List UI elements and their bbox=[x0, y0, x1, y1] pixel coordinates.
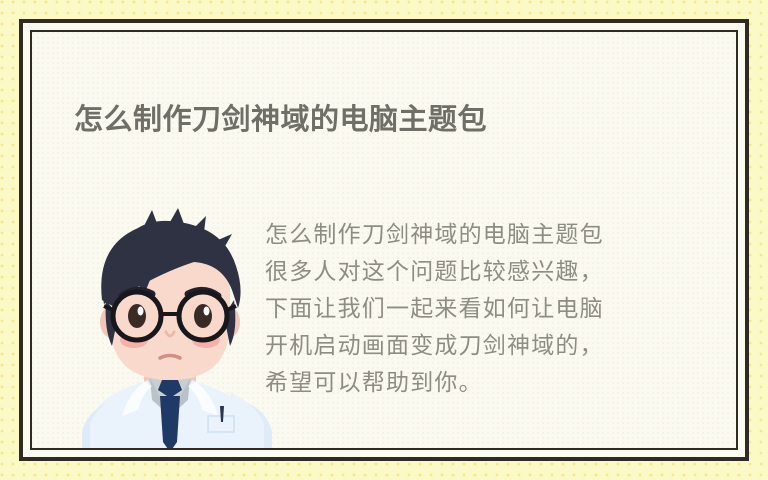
article-content-row: 怎么制作刀剑神域的电脑主题包 很多人对这个问题比较感兴趣， 下面让我们一起来看如… bbox=[32, 192, 736, 448]
body-line: 怎么制作刀剑神域的电脑主题包 bbox=[265, 216, 738, 253]
page-title: 怎么制作刀剑神域的电脑主题包 bbox=[74, 101, 696, 139]
body-line: 下面让我们一起来看如何让电脑 bbox=[265, 290, 738, 327]
article-card-inner-frame: 怎么制作刀剑神域的电脑主题包 bbox=[30, 30, 738, 450]
body-line: 希望可以帮助到你。 bbox=[265, 364, 738, 401]
page-background: 怎么制作刀剑神域的电脑主题包 bbox=[0, 0, 768, 480]
article-card-outer-frame: 怎么制作刀剑神域的电脑主题包 bbox=[19, 19, 749, 461]
body-line: 开机启动画面变成刀剑神域的， bbox=[265, 327, 738, 364]
cartoon-man-illustration bbox=[82, 204, 272, 450]
body-line: 很多人对这个问题比较感兴趣， bbox=[265, 253, 738, 290]
article-body-text: 怎么制作刀剑神域的电脑主题包 很多人对这个问题比较感兴趣， 下面让我们一起来看如… bbox=[265, 216, 738, 401]
